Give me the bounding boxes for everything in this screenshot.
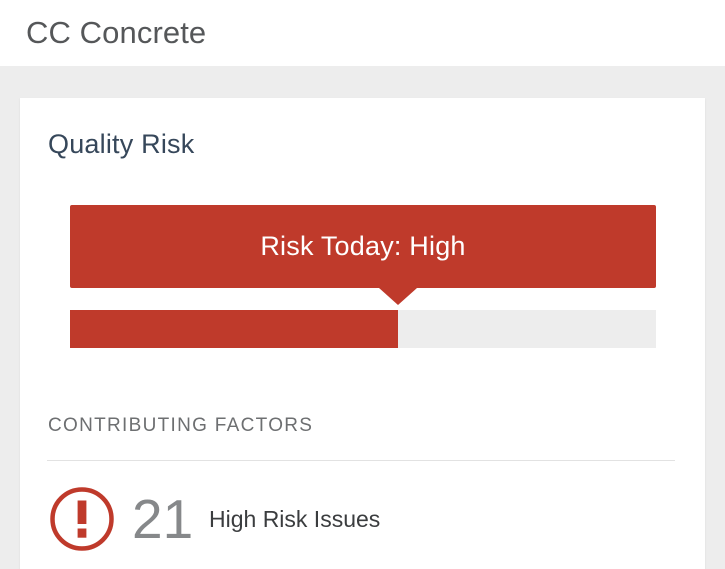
top-header-bar: CC Concrete — [0, 0, 725, 66]
quality-risk-card: Quality Risk Risk Today: High CONTRIBUTI… — [20, 98, 705, 569]
factor-label: High Risk Issues — [209, 504, 380, 534]
contributing-factors-heading: CONTRIBUTING FACTORS — [48, 414, 313, 438]
section-divider — [47, 460, 675, 461]
factor-count: 21 — [132, 486, 193, 552]
list-item[interactable]: 21 High Risk Issues — [47, 484, 675, 564]
callout-pointer-icon — [379, 288, 417, 305]
app-root: CC Concrete Quality Risk Risk Today: Hig… — [0, 0, 725, 569]
risk-today-callout: Risk Today: High — [70, 205, 656, 288]
exclamation-circle-icon — [49, 486, 115, 552]
risk-meter-fill — [70, 310, 398, 348]
risk-meter-track — [70, 310, 656, 348]
card-title: Quality Risk — [48, 127, 194, 161]
page-title: CC Concrete — [26, 14, 206, 52]
risk-today-label: Risk Today: High — [70, 229, 656, 263]
